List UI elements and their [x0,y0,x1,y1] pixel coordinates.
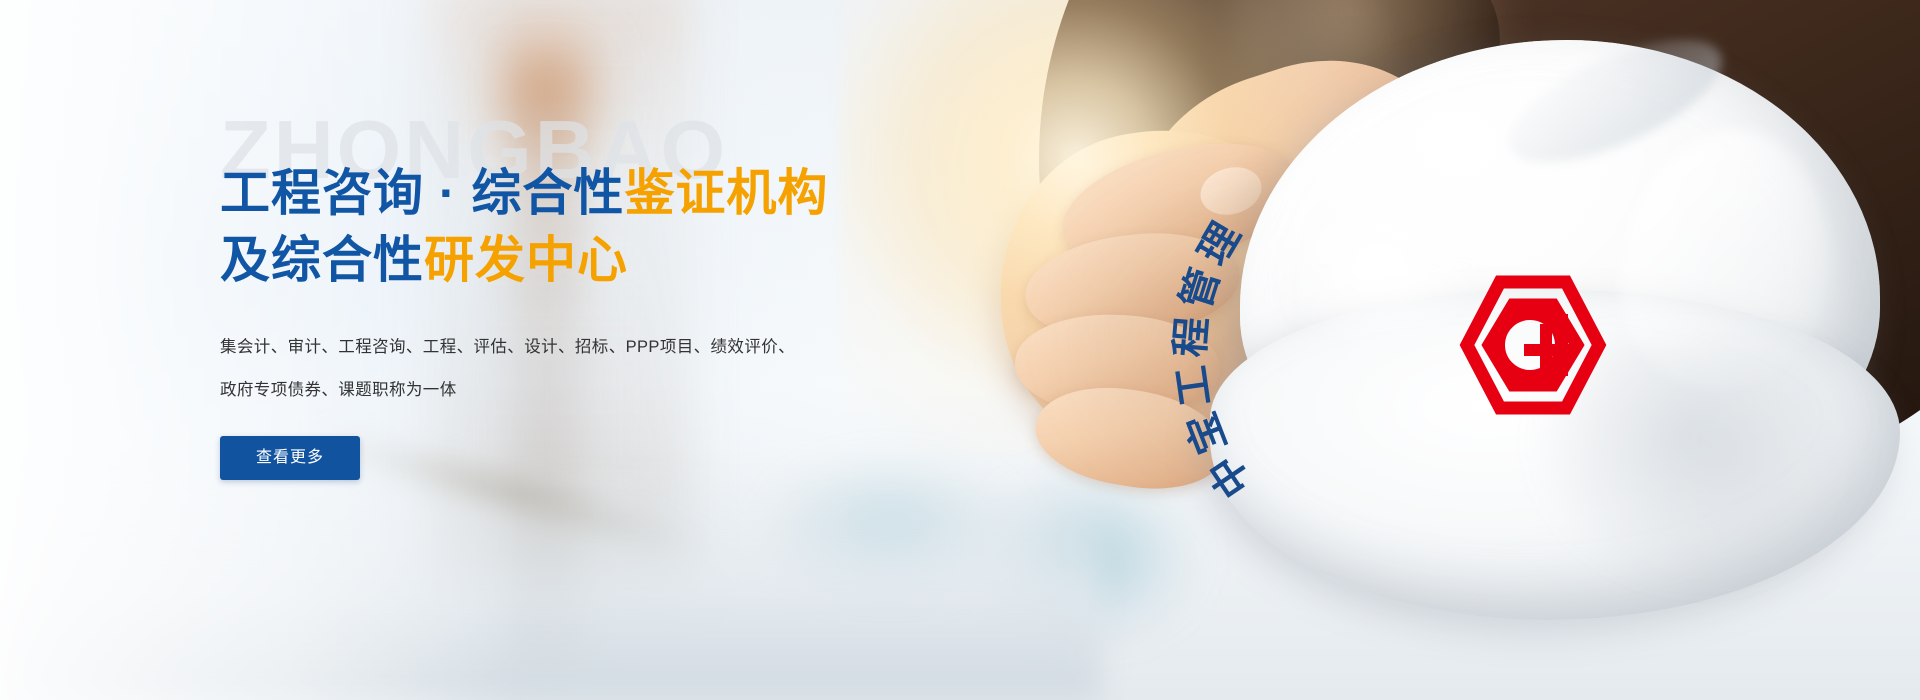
description-line-2: 政府专项债券、课题职称为一体 [220,369,980,412]
headline-line-1-accent: 鉴证机构 [624,165,828,221]
hero-content: ZHONGBAO 工程咨询 · 综合性鉴证机构 及综合性研发中心 集会计、审计、… [220,108,980,480]
hard-hat: 中宝工程管理 [1200,40,1900,600]
headline-line-1-primary: 工程咨询 · 综合性 [220,165,624,221]
headline-line-2-accent: 研发中心 [424,232,628,288]
hero-headline: 工程咨询 · 综合性鉴证机构 及综合性研发中心 [220,160,980,294]
hero-description: 集会计、审计、工程咨询、工程、评估、设计、招标、PPP项目、绩效评价、 政府专项… [220,326,980,412]
zhongbao-hexagon-emblem-icon [1458,272,1608,418]
hero-banner: 中宝工程管理 [0,0,1920,700]
description-line-1: 集会计、审计、工程咨询、工程、评估、设计、招标、PPP项目、绩效评价、 [220,326,980,369]
view-more-button[interactable]: 查看更多 [220,436,360,480]
headline-line-1: 工程咨询 · 综合性鉴证机构 [220,160,980,227]
headline-line-2: 及综合性研发中心 [220,227,980,294]
headline-line-2-primary: 及综合性 [220,232,424,288]
